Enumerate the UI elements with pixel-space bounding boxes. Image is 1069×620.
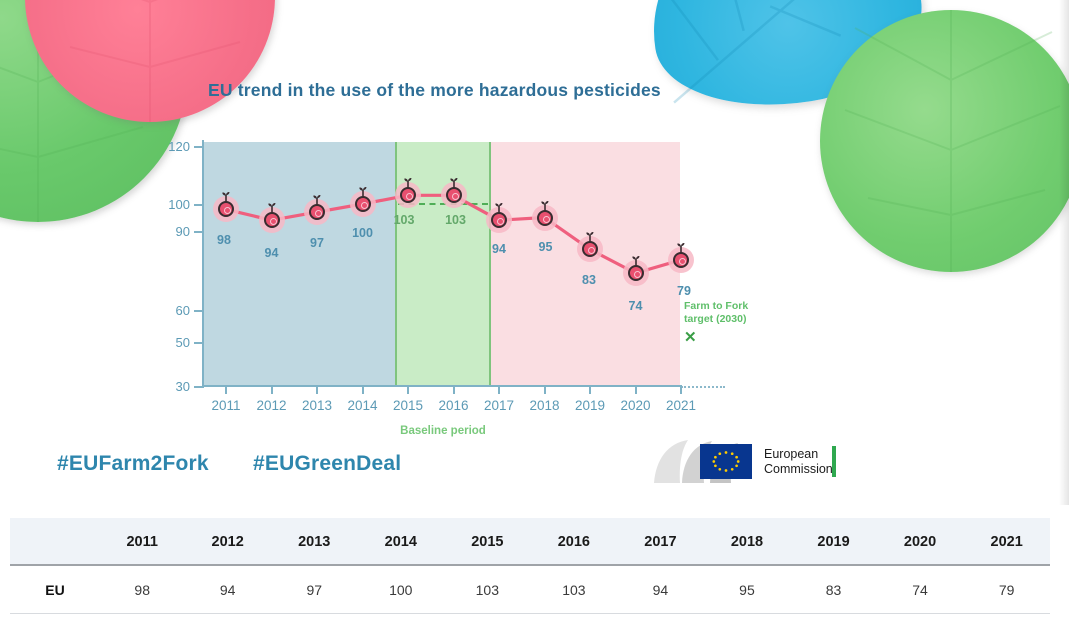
- pesticide-sprout-icon: [266, 200, 278, 211]
- table-cell-2014: 100: [358, 565, 445, 614]
- table-row: EU9894971001031039495837479: [10, 565, 1050, 614]
- sprout-icon: [311, 194, 323, 205]
- table-row-label: EU: [10, 565, 100, 614]
- table-body: EU9894971001031039495837479: [10, 565, 1050, 614]
- logo-line-commission: Commission: [764, 462, 833, 477]
- pesticide-sprout-icon: [220, 189, 232, 200]
- table-cell-2018: 95: [704, 565, 791, 614]
- marker-core: [355, 196, 371, 212]
- data-point-marker-2014[interactable]: [350, 191, 376, 217]
- hashtag-eufarm2fork[interactable]: #EUFarm2Fork: [57, 452, 209, 476]
- table-cell-2019: 83: [790, 565, 877, 614]
- hashtag-eugreendeal[interactable]: #EUGreenDeal: [253, 452, 401, 476]
- marker-core: [309, 204, 325, 220]
- data-point-marker-2012[interactable]: [259, 207, 285, 233]
- data-point-marker-2020[interactable]: [623, 260, 649, 286]
- data-label-2015: 103: [384, 213, 424, 227]
- farm-to-fork-target-marker-icon: ✕: [684, 330, 770, 345]
- european-commission-logo: European Commission: [652, 437, 842, 487]
- marker-core: [628, 265, 644, 281]
- table-cell-2011: 98: [100, 565, 184, 614]
- european-commission-name: European Commission: [764, 447, 833, 477]
- table-header: 2011201220132014201520162017201820192020…: [10, 518, 1050, 565]
- data-point-marker-2018[interactable]: [532, 205, 558, 231]
- data-point-marker-2019[interactable]: [577, 236, 603, 262]
- data-label-2016: 103: [436, 213, 476, 227]
- table-col-header-2018: 2018: [704, 518, 791, 565]
- sprout-icon: [448, 177, 460, 188]
- sprout-icon: [630, 255, 642, 266]
- pesticide-sprout-icon: [584, 229, 596, 240]
- card-edge-shadow: [1059, 0, 1069, 505]
- pesticide-sprout-icon: [675, 240, 687, 251]
- data-point-marker-2015[interactable]: [395, 182, 421, 208]
- farm-to-fork-line2: target (2030): [684, 313, 770, 326]
- farm-to-fork-line1: Farm to Fork: [684, 300, 770, 313]
- sprout-icon: [539, 200, 551, 211]
- pesticide-data-table: 2011201220132014201520162017201820192020…: [10, 518, 1050, 614]
- data-label-2017: 94: [479, 242, 519, 256]
- table-cell-2021: 79: [963, 565, 1050, 614]
- sprout-icon: [493, 202, 505, 213]
- table-cell-2015: 103: [444, 565, 531, 614]
- table-cell-2017: 94: [617, 565, 704, 614]
- logo-line-european: European: [764, 447, 833, 462]
- data-label-2018: 95: [526, 240, 566, 254]
- table-cell-2020: 74: [877, 565, 964, 614]
- table-cell-2012: 94: [184, 565, 271, 614]
- sprout-icon: [266, 202, 278, 213]
- table-corner-header: [10, 518, 100, 565]
- chart-plot-area: 120 100 90 60 50 30 20112012201320142015…: [0, 0, 1069, 505]
- pesticide-sprout-icon: [630, 253, 642, 264]
- baseline-period-label: Baseline period: [383, 425, 503, 437]
- data-label-2020: 74: [616, 299, 656, 313]
- data-point-marker-2011[interactable]: [213, 196, 239, 222]
- sprout-icon: [675, 242, 687, 253]
- table-col-header-2014: 2014: [358, 518, 445, 565]
- pesticide-sprout-icon: [357, 184, 369, 195]
- table-col-header-2013: 2013: [271, 518, 358, 565]
- data-label-2013: 97: [297, 236, 337, 250]
- table-col-header-2017: 2017: [617, 518, 704, 565]
- sprout-icon: [402, 177, 414, 188]
- sprout-icon: [584, 231, 596, 242]
- data-point-marker-2013[interactable]: [304, 199, 330, 225]
- data-label-2021: 79: [664, 284, 704, 298]
- pesticide-sprout-icon: [493, 200, 505, 211]
- data-label-2014: 100: [343, 226, 383, 240]
- marker-core: [537, 210, 553, 226]
- marker-core: [446, 187, 462, 203]
- table-col-header-2011: 2011: [100, 518, 184, 565]
- table-col-header-2012: 2012: [184, 518, 271, 565]
- logo-green-bar: [832, 446, 836, 477]
- marker-core: [673, 252, 689, 268]
- eu-flag-icon: [700, 444, 752, 479]
- sprout-icon: [357, 186, 369, 197]
- data-point-marker-2016[interactable]: [441, 182, 467, 208]
- table-col-header-2019: 2019: [790, 518, 877, 565]
- sprout-icon: [220, 191, 232, 202]
- marker-core: [264, 212, 280, 228]
- eu-stars-icon: [700, 444, 752, 479]
- pesticide-sprout-icon: [539, 198, 551, 209]
- data-point-marker-2017[interactable]: [486, 207, 512, 233]
- pesticide-sprout-icon: [402, 175, 414, 186]
- data-label-2011: 98: [204, 233, 244, 247]
- table-cell-2016: 103: [531, 565, 618, 614]
- table-col-header-2015: 2015: [444, 518, 531, 565]
- table-col-header-2020: 2020: [877, 518, 964, 565]
- data-label-2019: 83: [569, 273, 609, 287]
- table-cell-2013: 97: [271, 565, 358, 614]
- farm-to-fork-target-annotation: Farm to Fork target (2030) ✕: [684, 300, 770, 345]
- pesticide-sprout-icon: [448, 175, 460, 186]
- table-header-row: 2011201220132014201520162017201820192020…: [10, 518, 1050, 565]
- data-point-marker-2021[interactable]: [668, 247, 694, 273]
- data-label-2012: 94: [252, 246, 292, 260]
- table-col-header-2016: 2016: [531, 518, 618, 565]
- infographic-panel: EU trend in the use of the more hazardou…: [0, 0, 1069, 505]
- table-col-header-2021: 2021: [963, 518, 1050, 565]
- pesticide-sprout-icon: [311, 192, 323, 203]
